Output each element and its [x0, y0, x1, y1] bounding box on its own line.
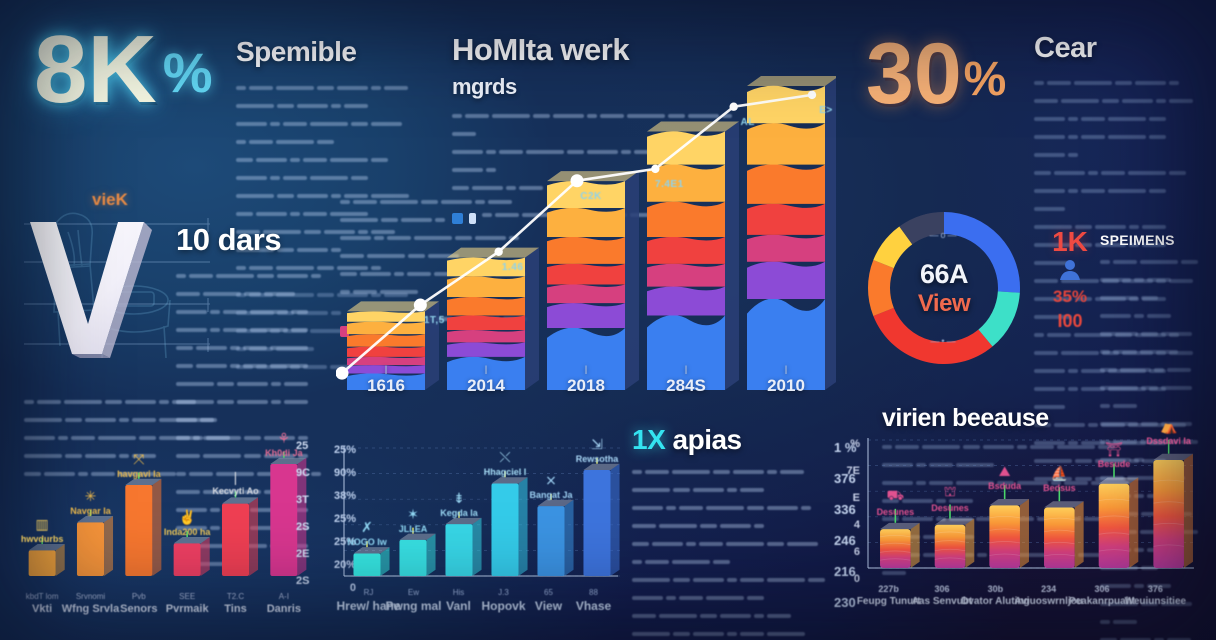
x-label-value: kbdT lom [26, 592, 59, 601]
x-label-name: Weuiunsitiee [1125, 596, 1187, 607]
marker-glyph: ⛩ [1098, 441, 1131, 458]
donut-chart: —o— 66A View —•— [852, 196, 1036, 380]
bar-marker: ✌Inda200 ha [164, 509, 211, 537]
bottom-left-x-labels: kbdT lomVktiSrvnomiWfng SrvlaPvbSenorsSE… [18, 592, 308, 632]
x-axis-label: EwPwng mal [385, 588, 441, 613]
x-axis-label: 88Vhase [576, 588, 611, 613]
kpi-30-value: 30 [866, 34, 962, 116]
virien-heading: virien beeause [882, 404, 1132, 433]
marker-glyph: ✌ [164, 509, 211, 526]
marker-caption: Desunes [877, 507, 915, 517]
marker-caption: NOGO Iw [347, 537, 387, 547]
bar-marker: ⛫Desunes [931, 483, 969, 513]
x-label-value: 376 [1125, 584, 1187, 594]
marker-caption: Bedsus [1043, 483, 1076, 493]
kpi-8k: 8K % [34, 24, 213, 115]
bar-marker: ⤬Hhagciel I [484, 449, 527, 477]
marker-caption: Bsduda [988, 481, 1021, 491]
marker-glyph: ⇟ [440, 490, 478, 507]
bar-marker: ✗NOGO Iw [347, 519, 387, 547]
main-chart-tick: | [785, 364, 788, 374]
dars-heading: 10 dars [176, 222, 326, 258]
kpi-30-percent: 30 % [866, 34, 1006, 116]
bar-marker: ⛺Dssdavi la [1146, 418, 1191, 446]
block-1x-apias: 1X apias [632, 424, 830, 640]
marker-caption: havgavi la [117, 469, 161, 479]
bar-marker: ⤧havgavi la [117, 451, 161, 479]
bar-marker: ⛵Bedsus [1043, 465, 1076, 493]
x-label-name: Danris [267, 603, 301, 615]
x-label-value: T2.C [224, 592, 246, 601]
marker-caption: Dssdavi la [1146, 436, 1191, 446]
main-chart-x-label: 284S [666, 376, 706, 396]
main-chart-point-label: 7.4E1 [655, 179, 684, 190]
marker-glyph: ⛰ [988, 463, 1021, 480]
apias-prefix: 1X [632, 424, 665, 455]
bar-marker: ⨯Bangat Ja [529, 472, 572, 500]
marker-caption: Desunes [931, 503, 969, 513]
main-chart-tick: | [385, 364, 388, 374]
main-chart-point-label: E> [819, 105, 833, 116]
x-axis-label: 376Weuiunsitiee [1125, 584, 1187, 607]
x-axis-label: 65View [535, 588, 562, 613]
x-axis-label: PvbSenors [120, 592, 157, 615]
x-label-value: His [446, 588, 471, 597]
marker-glyph: ▥ [21, 516, 64, 533]
x-label-value: SEE [166, 592, 209, 601]
marker-glyph: ⚘ [265, 430, 303, 447]
cear-heading: Cear [1034, 32, 1200, 65]
donut-stat-primary: 1K [1040, 228, 1100, 256]
bar-marker: ⛟Desunes [877, 487, 915, 517]
marker-glyph: ✗ [347, 519, 387, 536]
marker-glyph: ⛫ [931, 483, 969, 502]
apias-suffix: apias [673, 424, 742, 455]
main-chart-point-label: 1T,5 [424, 315, 445, 326]
x-label-name: Vanl [446, 599, 471, 613]
bar-marker: |Kecvyti Ao [212, 469, 258, 496]
bar-marker: ⇲Rewsotha [576, 436, 619, 464]
bar-marker: ⇟Kegda la [440, 490, 478, 518]
main-chart-point-label: AL [740, 117, 754, 128]
main-chart-x-axis: 1616|2014|2018|284S|2010| [336, 376, 836, 402]
marker-glyph: ⛺ [1146, 418, 1191, 435]
marker-glyph: | [212, 469, 258, 485]
main-chart-point-label: 1.46 [502, 262, 523, 273]
marker-caption: Besude [1098, 459, 1131, 469]
marker-glyph: ✶ [399, 506, 428, 523]
x-axis-label: SEEPvrmaik [166, 592, 209, 615]
x-label-name: Hopovk [481, 599, 525, 613]
main-chart-x-label: 1616 [367, 376, 405, 396]
donut-stat-secondary: 35% [1040, 287, 1100, 307]
x-label-name: View [535, 599, 562, 613]
x-axis-label: SrvnomiWfng Srvla [62, 592, 119, 615]
main-stacked-area-chart [336, 60, 836, 390]
main-chart-tick: | [685, 364, 688, 374]
main-chart-tick: | [585, 364, 588, 374]
x-axis-label: HisVanl [446, 588, 471, 613]
x-label-name: Vkti [26, 603, 59, 615]
bar-marker: ⛩Besude [1098, 441, 1131, 469]
bar-marker: ✶JLLEA [399, 506, 428, 534]
x-label-name: Pvrmaik [166, 603, 209, 615]
x-label-value: J.3 [481, 588, 525, 597]
marker-caption: Inda200 ha [164, 527, 211, 537]
x-label-value: Srvnomi [62, 592, 119, 601]
donut-tick-top: —o— [929, 230, 958, 240]
main-chart-point-label: C2K [580, 191, 602, 202]
x-label-name: Vhase [576, 599, 611, 613]
main-chart-x-label: 2014 [467, 376, 505, 396]
main-chart-x-label: 2018 [567, 376, 605, 396]
apias-heading: 1X apias [632, 424, 830, 456]
marker-caption: Kh0di Ja [265, 448, 303, 458]
x-label-value: Ew [385, 588, 441, 597]
apias-paragraph [632, 466, 830, 640]
bar-marker: ⚘Kh0di Ja [265, 430, 303, 458]
main-chart-x-label: 2010 [767, 376, 805, 396]
x-axis-label: kbdT lomVkti [26, 592, 59, 615]
x-label-name: Wfng Srvla [62, 603, 119, 615]
marker-glyph: ✳ [70, 488, 111, 505]
kpi-8k-value: 8K [34, 24, 157, 115]
marker-caption: hwvdurbs [21, 534, 64, 544]
x-label-value: 65 [535, 588, 562, 597]
donut-stat-tertiary: I00 [1040, 311, 1100, 332]
marker-caption: Hhagciel I [484, 467, 527, 477]
infographic-poster: 8K % Spemible vieK [0, 0, 1216, 640]
marker-glyph: ⇲ [576, 436, 619, 453]
main-chart-tick: | [485, 364, 488, 374]
marker-caption: Kecvyti Ao [212, 486, 258, 496]
marker-caption: Navgar la [70, 506, 111, 516]
marker-caption: Bangat Ja [529, 490, 572, 500]
bar-marker: ⛰Bsduda [988, 463, 1021, 491]
user-group-icon [1057, 259, 1083, 281]
marker-glyph: ⤧ [117, 451, 161, 468]
donut-tick-bottom: —•— [930, 336, 957, 346]
kpi-30-unit: % [964, 56, 1007, 104]
speimens-heading: SPEIMENS [1100, 232, 1206, 248]
bar-marker: ▥hwvdurbs [21, 516, 64, 544]
x-label-value: Pvb [120, 592, 157, 601]
marker-caption: Kegda la [440, 508, 478, 518]
bar-marker: ✳Navgar la [70, 488, 111, 516]
x-axis-label: J.3Hopovk [481, 588, 525, 613]
donut-stats: 1K 35% I00 [1040, 228, 1100, 332]
marker-glyph: ⨯ [529, 472, 572, 489]
donut-center-value: 66A [920, 259, 968, 290]
x-axis-label: T2.CTins [224, 592, 246, 615]
x-label-value: 88 [576, 588, 611, 597]
x-label-name: Pwng mal [385, 599, 441, 613]
marker-caption: Rewsotha [576, 454, 619, 464]
donut-center-label: View [918, 290, 970, 318]
kpi-8k-unit: % [163, 45, 213, 101]
x-label-name: Senors [120, 603, 157, 615]
marker-glyph: ⤬ [484, 449, 527, 466]
x-label-name: Tins [224, 603, 246, 615]
marker-glyph: ⛵ [1043, 465, 1076, 482]
v-checkmark-shape [22, 218, 158, 358]
marker-caption: JLLEA [399, 524, 428, 534]
donut-center: —o— 66A View —•— [852, 196, 1036, 380]
marker-glyph: ⛟ [877, 487, 915, 506]
